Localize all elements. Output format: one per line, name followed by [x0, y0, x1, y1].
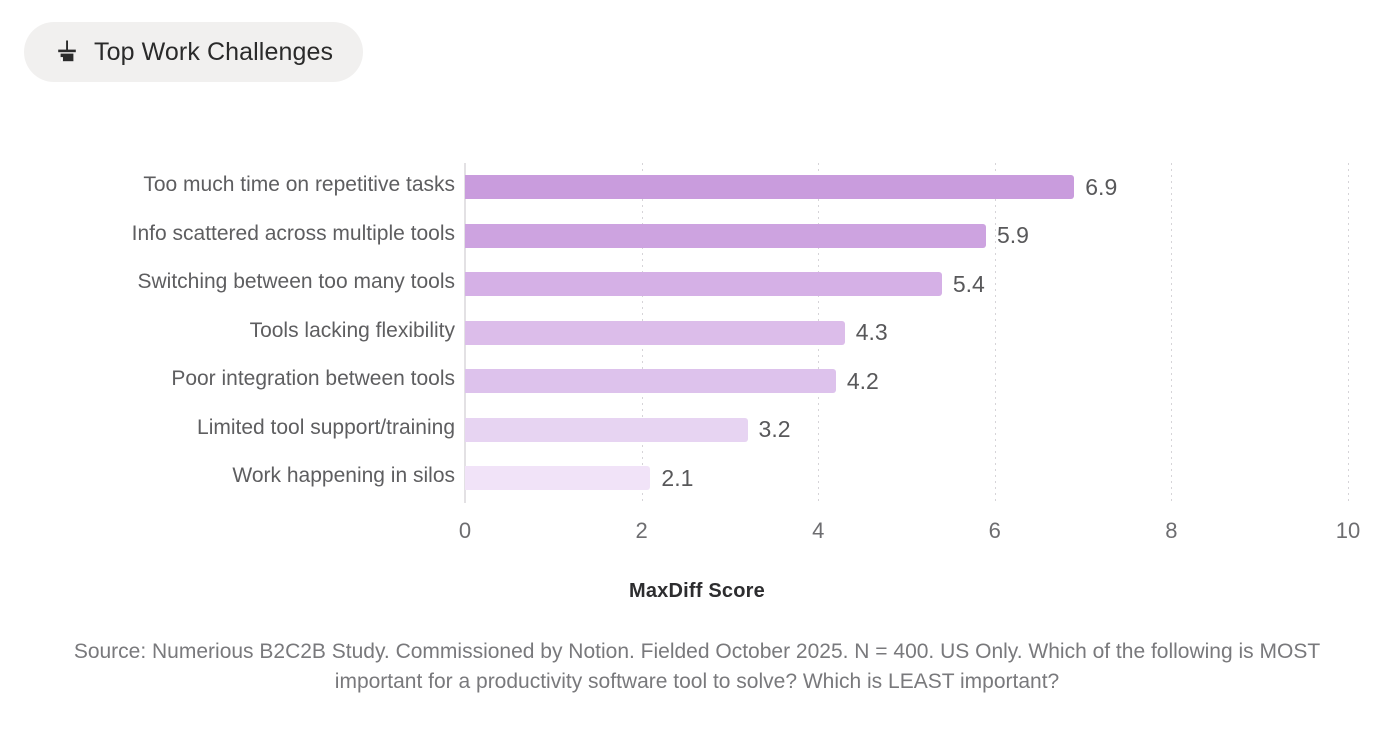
bar-value-label: 4.2 [847, 368, 879, 395]
bar[interactable] [465, 224, 986, 248]
bar-chart: 0246810 MaxDiff Score Too much time on r… [0, 0, 1394, 740]
category-label: Limited tool support/training [35, 416, 455, 440]
bar-row: 4.2 [465, 357, 879, 406]
x-tick-label: 2 [635, 518, 647, 544]
x-tick-label: 4 [812, 518, 824, 544]
bar-row: 5.4 [465, 260, 985, 309]
category-label: Work happening in silos [35, 464, 455, 488]
bar-value-label: 5.4 [953, 271, 985, 298]
gridline [1348, 163, 1349, 503]
x-tick-label: 8 [1165, 518, 1177, 544]
category-label: Tools lacking flexibility [35, 319, 455, 343]
bar-value-label: 5.9 [997, 222, 1029, 249]
bar-value-label: 2.1 [661, 465, 693, 492]
x-axis-title: MaxDiff Score [0, 580, 1394, 603]
category-label: Too much time on repetitive tasks [35, 173, 455, 197]
bar-value-label: 6.9 [1085, 174, 1117, 201]
x-tick-label: 0 [459, 518, 471, 544]
category-label: Poor integration between tools [35, 367, 455, 391]
bar-row: 4.3 [465, 309, 888, 358]
bar[interactable] [465, 418, 748, 442]
source-footnote: Source: Numerious B2C2B Study. Commissio… [37, 637, 1357, 697]
bar-value-label: 3.2 [759, 416, 791, 443]
category-label: Info scattered across multiple tools [35, 222, 455, 246]
bar-row: 2.1 [465, 454, 693, 503]
x-tick-label: 10 [1336, 518, 1360, 544]
bar[interactable] [465, 272, 942, 296]
bar-row: 6.9 [465, 163, 1117, 212]
bar[interactable] [465, 175, 1074, 199]
x-tick-label: 6 [989, 518, 1001, 544]
category-label: Switching between too many tools [35, 270, 455, 294]
bar[interactable] [465, 369, 836, 393]
bar-row: 5.9 [465, 212, 1029, 261]
bar[interactable] [465, 321, 845, 345]
bar[interactable] [465, 466, 650, 490]
bar-value-label: 4.3 [856, 319, 888, 346]
gridline [1171, 163, 1172, 503]
bar-row: 3.2 [465, 406, 791, 455]
